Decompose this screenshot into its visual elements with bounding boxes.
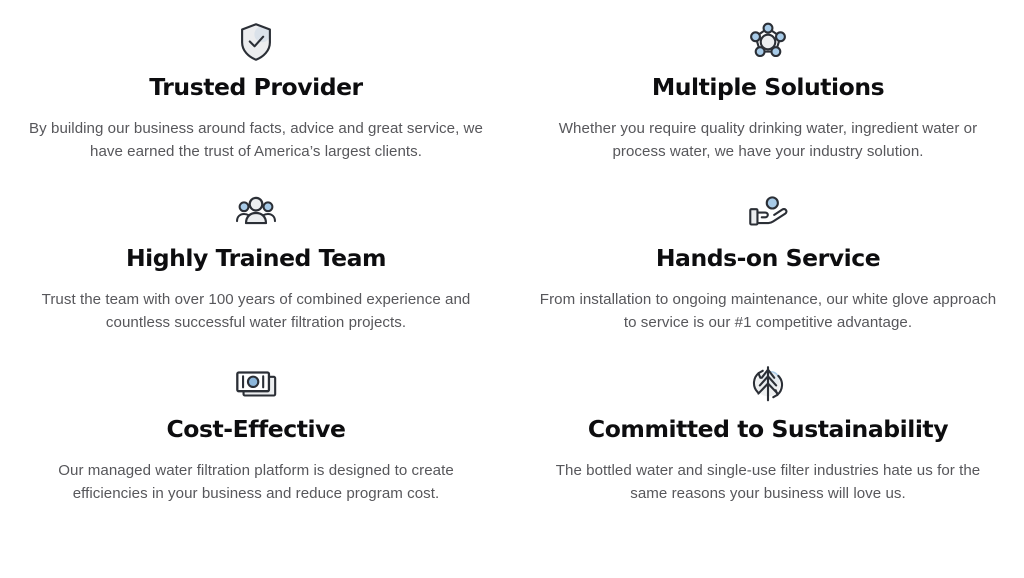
- network-nodes-icon: [740, 14, 796, 70]
- bottom-spacer-right: [512, 513, 1024, 578]
- feature-title: Trusted Provider: [149, 74, 362, 103]
- features-grid: Trusted Provider By building our busines…: [0, 0, 1024, 578]
- people-group-icon: [228, 185, 284, 241]
- banknotes-icon: [228, 356, 284, 412]
- tree-recycle-icon: [740, 356, 796, 412]
- feature-description: The bottled water and single-use filter …: [536, 445, 1000, 506]
- feature-card-committed-to-sustainability: Committed to Sustainability The bottled …: [512, 342, 1024, 513]
- feature-card-multiple-solutions: Multiple Solutions Whether you require q…: [512, 0, 1024, 171]
- feature-description: Our managed water filtration platform is…: [24, 445, 488, 506]
- feature-card-trusted-provider: Trusted Provider By building our busines…: [0, 0, 512, 171]
- hand-holding-drop-icon: [740, 185, 796, 241]
- feature-title: Cost-Effective: [167, 416, 346, 445]
- feature-card-highly-trained-team: Highly Trained Team Trust the team with …: [0, 171, 512, 342]
- feature-title: Multiple Solutions: [652, 74, 884, 103]
- bottom-spacer-left: [0, 513, 512, 578]
- feature-title: Hands-on Service: [656, 245, 880, 274]
- feature-card-cost-effective: Cost-Effective Our managed water filtrat…: [0, 342, 512, 513]
- feature-description: Trust the team with over 100 years of co…: [24, 274, 488, 335]
- feature-card-hands-on-service: Hands-on Service From installation to on…: [512, 171, 1024, 342]
- feature-description: By building our business around facts, a…: [24, 103, 488, 164]
- feature-title: Committed to Sustainability: [588, 416, 948, 445]
- feature-description: From installation to ongoing maintenance…: [536, 274, 1000, 335]
- feature-description: Whether you require quality drinking wat…: [536, 103, 1000, 164]
- feature-title: Highly Trained Team: [126, 245, 386, 274]
- shield-check-icon: [228, 14, 284, 70]
